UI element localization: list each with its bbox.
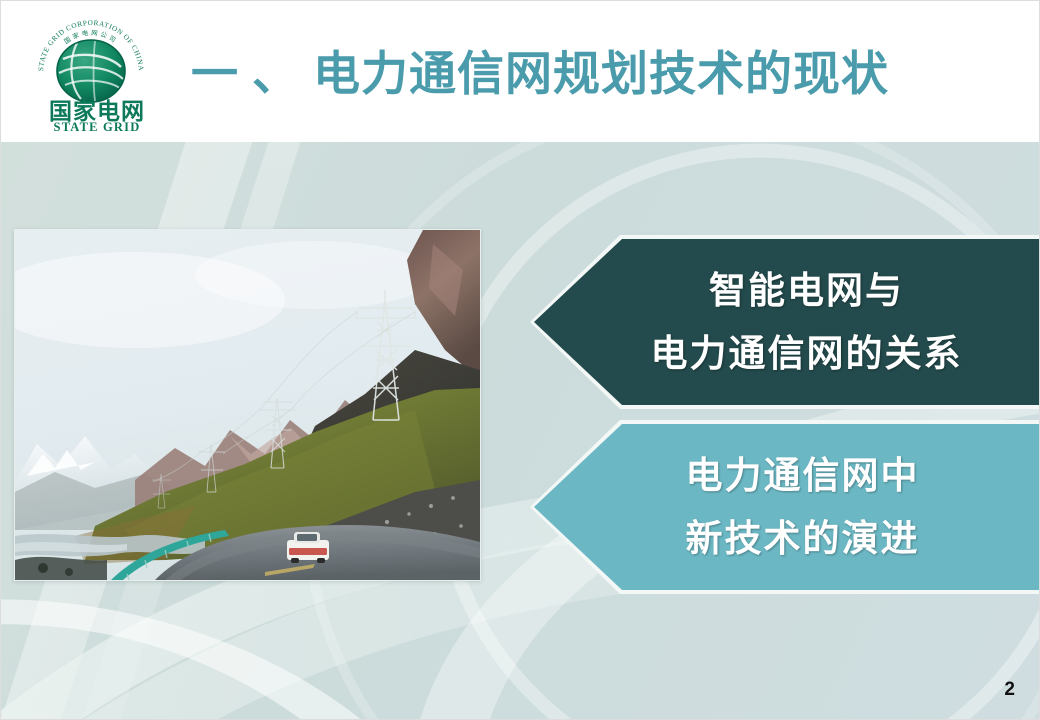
page-title: 一、电力通信网规划技术的现状 <box>191 47 981 101</box>
slide-canvas: STATE GRID CORPORATION OF CHINA 国家电网公司 国… <box>0 0 1040 720</box>
state-grid-logo: STATE GRID CORPORATION OF CHINA 国家电网公司 国… <box>33 15 161 133</box>
banner-1-line-2: 电力通信网的关系 <box>643 335 971 372</box>
title-number: 一、 <box>191 47 313 100</box>
banner-new-tech-evolution[interactable]: 电力通信网中 新技术的演进 <box>534 424 1040 590</box>
page-number: 2 <box>1004 679 1015 701</box>
banner-1-line-1: 智能电网与 <box>701 272 912 309</box>
banner-2-line-2: 新技术的演进 <box>678 520 928 557</box>
svg-text:STATE GRID: STATE GRID <box>54 120 141 133</box>
mountain-transmission-line-photo <box>14 229 481 581</box>
banner-smart-grid-relation[interactable]: 智能电网与 电力通信网的关系 <box>534 239 1040 405</box>
banner-2-line-1: 电力通信网中 <box>678 457 928 494</box>
title-text: 电力通信网规划技术的现状 <box>313 47 889 100</box>
